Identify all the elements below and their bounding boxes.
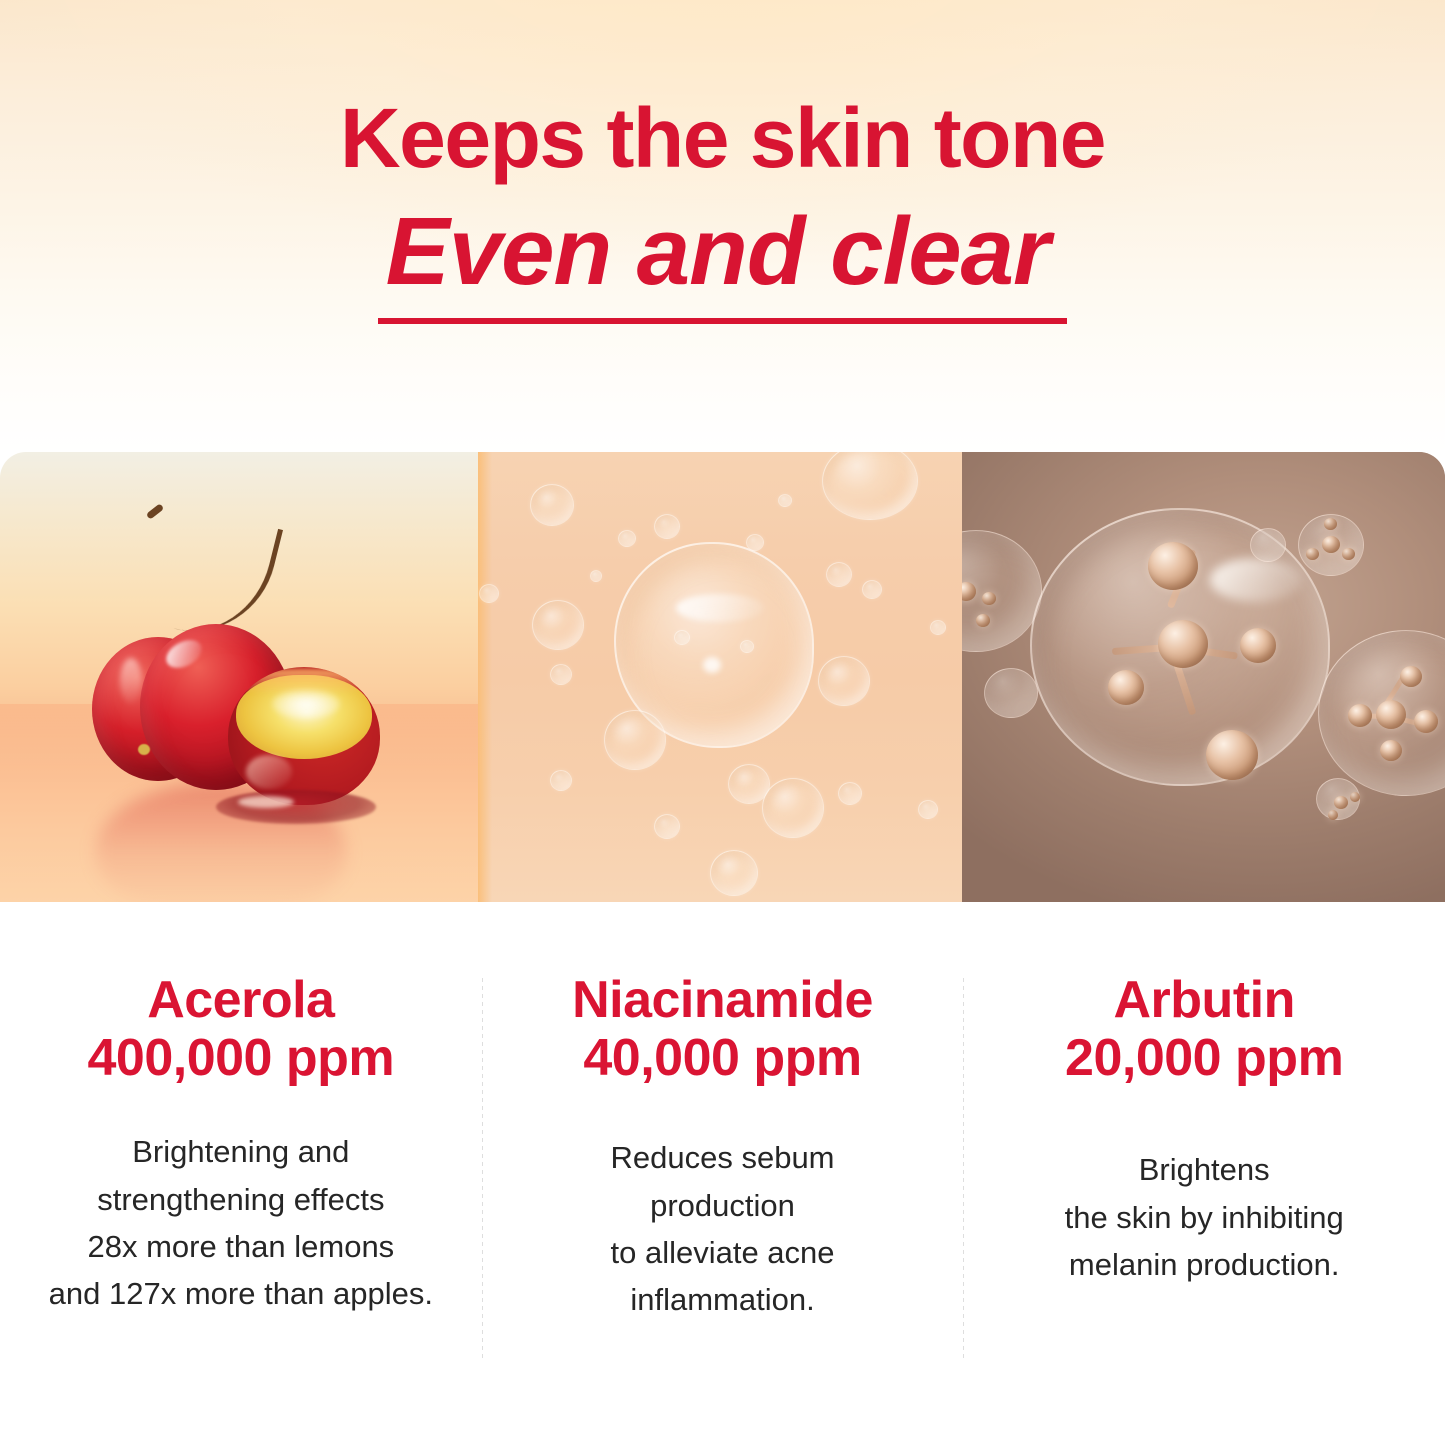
molecule-atom xyxy=(1380,740,1402,761)
serum-bubble xyxy=(838,782,862,805)
headline-line-1: Keeps the skin tone xyxy=(0,96,1445,180)
ingredient-description: Brightens the skin by inhibiting melanin… xyxy=(981,1146,1427,1287)
molecule-atom xyxy=(1148,542,1198,590)
serum-bubble xyxy=(740,640,754,653)
serum-bubble xyxy=(604,710,666,770)
ingredient-column-acerola: Acerola 400,000 ppm Brightening and stre… xyxy=(0,902,482,1445)
serum-bubble xyxy=(818,656,870,706)
arbutin-photo xyxy=(962,452,1445,902)
molecule-atom xyxy=(1108,670,1144,705)
molecule-atom xyxy=(1324,518,1337,530)
ingredient-name: Niacinamide xyxy=(500,972,946,1028)
serum-bubble xyxy=(918,800,938,819)
acerola-highlight-secondary xyxy=(120,658,142,704)
serum-bubble xyxy=(930,620,946,635)
molecule-atom xyxy=(1206,730,1258,780)
arbutin-bubble-main-highlight xyxy=(1210,558,1302,602)
serum-bubble xyxy=(778,494,792,507)
serum-bubble xyxy=(532,600,584,650)
ingredient-amount: 20,000 ppm xyxy=(981,1028,1427,1088)
molecule-atom xyxy=(1240,628,1276,663)
arbutin-bubble-small xyxy=(1250,528,1286,562)
ingredient-amount: 400,000 ppm xyxy=(18,1028,464,1088)
ingredient-amount: 40,000 ppm xyxy=(500,1028,946,1088)
serum-bubble xyxy=(550,664,572,685)
acerola-cherry-half xyxy=(228,667,380,805)
acerola-stem-tip xyxy=(146,503,164,520)
acerola-photo xyxy=(0,452,478,902)
acerola-juice-highlight xyxy=(238,796,294,808)
niacinamide-photo xyxy=(478,452,962,902)
molecule-atom-center xyxy=(1334,796,1348,809)
serum-bubble xyxy=(550,770,572,791)
serum-bubble xyxy=(826,562,852,587)
molecule-atom xyxy=(1306,548,1319,560)
acerola-juice-pool xyxy=(216,790,376,824)
ingredient-column-arbutin: Arbutin 20,000 ppm Brightens the skin by… xyxy=(963,902,1445,1445)
serum-bubble xyxy=(479,584,499,603)
serum-bubble xyxy=(618,530,636,547)
ingredient-columns: Acerola 400,000 ppm Brightening and stre… xyxy=(0,902,1445,1445)
serum-bubble xyxy=(654,514,680,539)
serum-bubble xyxy=(590,570,602,582)
serum-bubble xyxy=(530,484,574,526)
serum-bubble xyxy=(762,778,824,838)
serum-bubble xyxy=(710,850,758,896)
serum-bubble xyxy=(746,534,764,551)
ingredient-description: Brightening and strengthening effects 28… xyxy=(18,1128,464,1316)
arbutin-bubble-small xyxy=(984,668,1038,718)
acerola-cut-rim xyxy=(232,669,376,695)
headline-block: Keeps the skin tone Even and clear xyxy=(0,96,1445,300)
serum-bubble xyxy=(654,814,680,839)
molecule-atom xyxy=(976,614,990,627)
molecule-atom xyxy=(1414,710,1438,733)
headline-underline xyxy=(378,318,1068,324)
ingredient-description: Reduces sebum production to alleviate ac… xyxy=(500,1134,946,1322)
infographic-canvas: Keeps the skin tone Even and clear xyxy=(0,0,1445,1445)
molecule-atom-center xyxy=(1158,620,1208,668)
serum-bubble-large-highlight xyxy=(676,594,764,622)
serum-bubble xyxy=(822,452,918,520)
molecule-atom xyxy=(1342,548,1355,560)
acerola-blemish xyxy=(138,744,150,755)
molecule-atom xyxy=(1328,810,1338,820)
molecule-atom xyxy=(982,592,996,605)
serum-bubble-large-core xyxy=(703,657,721,673)
serum-bubble xyxy=(862,580,882,599)
molecule-atom xyxy=(1348,704,1372,727)
molecule-atom-center xyxy=(1376,700,1406,729)
ingredient-image-strip xyxy=(0,452,1445,902)
headline-line-2-wrapper: Even and clear xyxy=(382,204,1064,300)
headline-line-2: Even and clear xyxy=(382,204,1064,300)
ingredient-name: Arbutin xyxy=(981,972,1427,1028)
serum-bubble xyxy=(674,630,690,645)
ingredient-name: Acerola xyxy=(18,972,464,1028)
ingredient-column-niacinamide: Niacinamide 40,000 ppm Reduces sebum pro… xyxy=(482,902,964,1445)
acerola-half-highlight xyxy=(246,755,292,789)
molecule-atom xyxy=(1400,666,1422,687)
molecule-atom xyxy=(1350,792,1360,802)
molecule-atom-center xyxy=(1322,536,1340,553)
hero-section: Keeps the skin tone Even and clear xyxy=(0,0,1445,455)
